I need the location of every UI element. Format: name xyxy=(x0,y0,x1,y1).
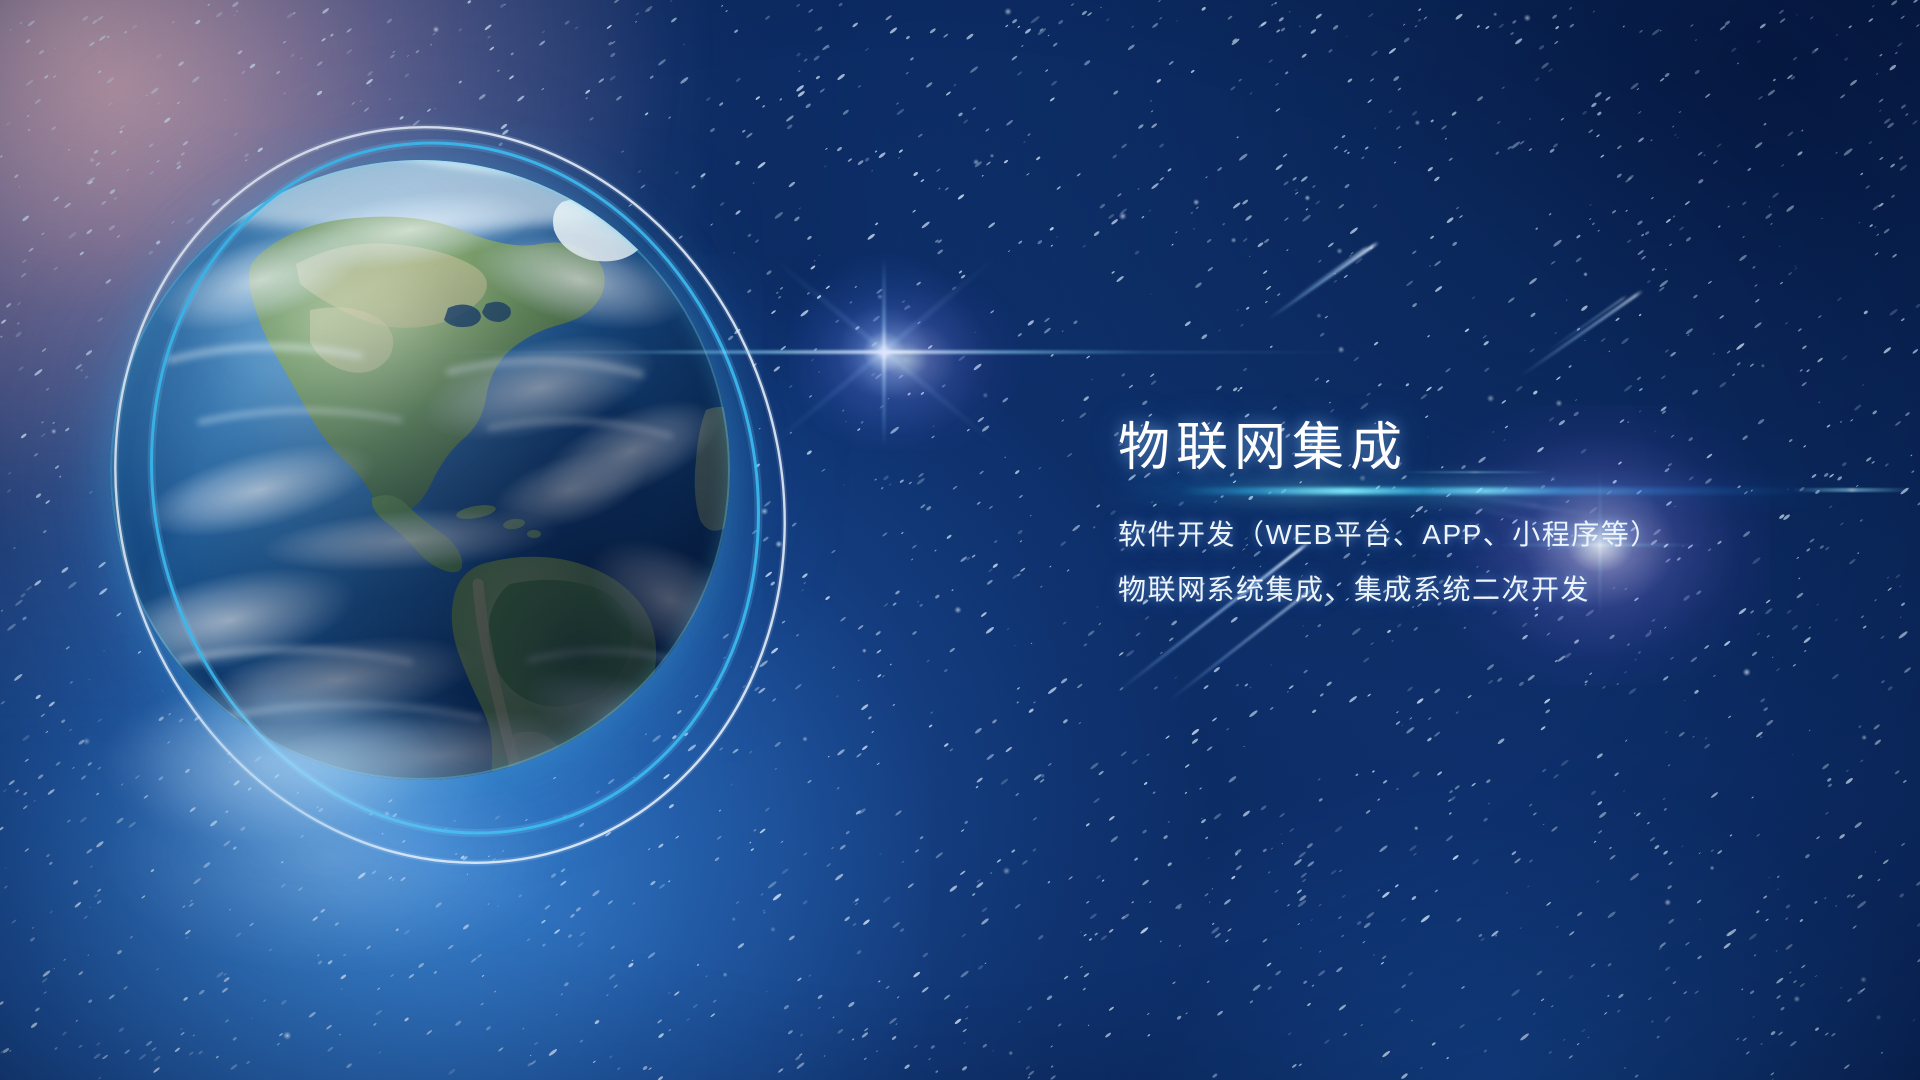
subtitle-line-2: 物联网系统集成、集成系统二次开发 xyxy=(1118,576,1838,604)
banner-text-block: 物联网集成 软件开发（WEB平台、APP、小程序等） 物联网系统集成、集成系统二… xyxy=(1118,418,1838,604)
earth-globe xyxy=(110,160,730,780)
subtitle-line-1: 软件开发（WEB平台、APP、小程序等） xyxy=(1118,521,1838,549)
globe-container xyxy=(110,160,730,780)
banner-stage: 物联网集成 软件开发（WEB平台、APP、小程序等） 物联网系统集成、集成系统二… xyxy=(0,0,1920,1080)
title-left-violet-bloom xyxy=(790,270,1020,450)
globe-cloud-reflection-core xyxy=(150,700,480,860)
page-title: 物联网集成 xyxy=(1118,418,1838,479)
